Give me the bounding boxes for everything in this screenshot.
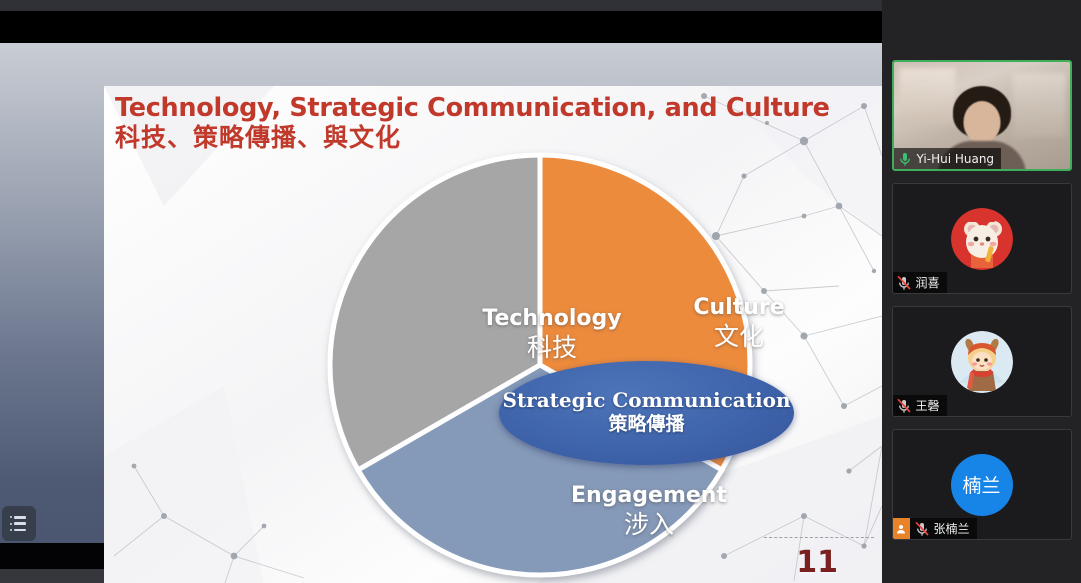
participant-name-bar: Yi-Hui Huang	[894, 148, 1002, 169]
participant-tile[interactable]: 王磬	[892, 306, 1072, 417]
mic-muted-icon	[896, 398, 912, 414]
participant-name-bar: 王磬	[893, 395, 947, 416]
stage-letterbox-top	[0, 11, 882, 43]
mic-on-icon	[897, 151, 913, 167]
slide-title-en: Technology, Strategic Communication, and…	[115, 95, 815, 123]
mic-muted-icon	[896, 275, 912, 291]
participant-avatar	[951, 331, 1013, 393]
slide-title: Technology, Strategic Communication, and…	[115, 95, 815, 152]
participant-name-bar: 张楠兰	[893, 518, 977, 539]
pie-center-label-zh: 策略傳播	[608, 413, 684, 436]
participant-name: 王磬	[916, 397, 940, 414]
host-badge-icon	[893, 518, 910, 539]
list-icon	[10, 516, 28, 531]
participant-name-bar: 润喜	[893, 272, 947, 293]
participant-name: 张楠兰	[934, 520, 970, 537]
pie-center-label: Strategic Communication 策略傳播	[499, 361, 794, 465]
mic-muted-icon	[914, 521, 930, 537]
layout-list-button[interactable]	[2, 506, 36, 541]
participant-avatar	[951, 208, 1013, 270]
conference-window: Technology, Strategic Communication, and…	[0, 0, 1081, 583]
participant-rail: Yi-Hui Huang	[882, 0, 1081, 583]
participant-tile[interactable]: 楠兰 张楠兰	[892, 429, 1072, 540]
participant-avatar-initials: 楠兰	[951, 454, 1013, 516]
participant-tile[interactable]: Yi-Hui Huang	[892, 60, 1072, 171]
participant-list: Yi-Hui Huang	[882, 0, 1081, 583]
pie-center-label-en: Strategic Communication	[503, 390, 791, 411]
pie-diagram	[317, 142, 763, 583]
participant-tile[interactable]: 润喜	[892, 183, 1072, 294]
participant-name: 润喜	[916, 274, 940, 291]
participant-name: Yi-Hui Huang	[917, 152, 995, 166]
slide-dashed-rule	[764, 537, 874, 538]
presentation-slide: Technology, Strategic Communication, and…	[104, 86, 882, 583]
shared-screen-stage: Technology, Strategic Communication, and…	[0, 43, 882, 543]
slide-page-number: 11	[796, 545, 838, 580]
slide-title-zh: 科技、策略傳播、與文化	[115, 124, 815, 153]
